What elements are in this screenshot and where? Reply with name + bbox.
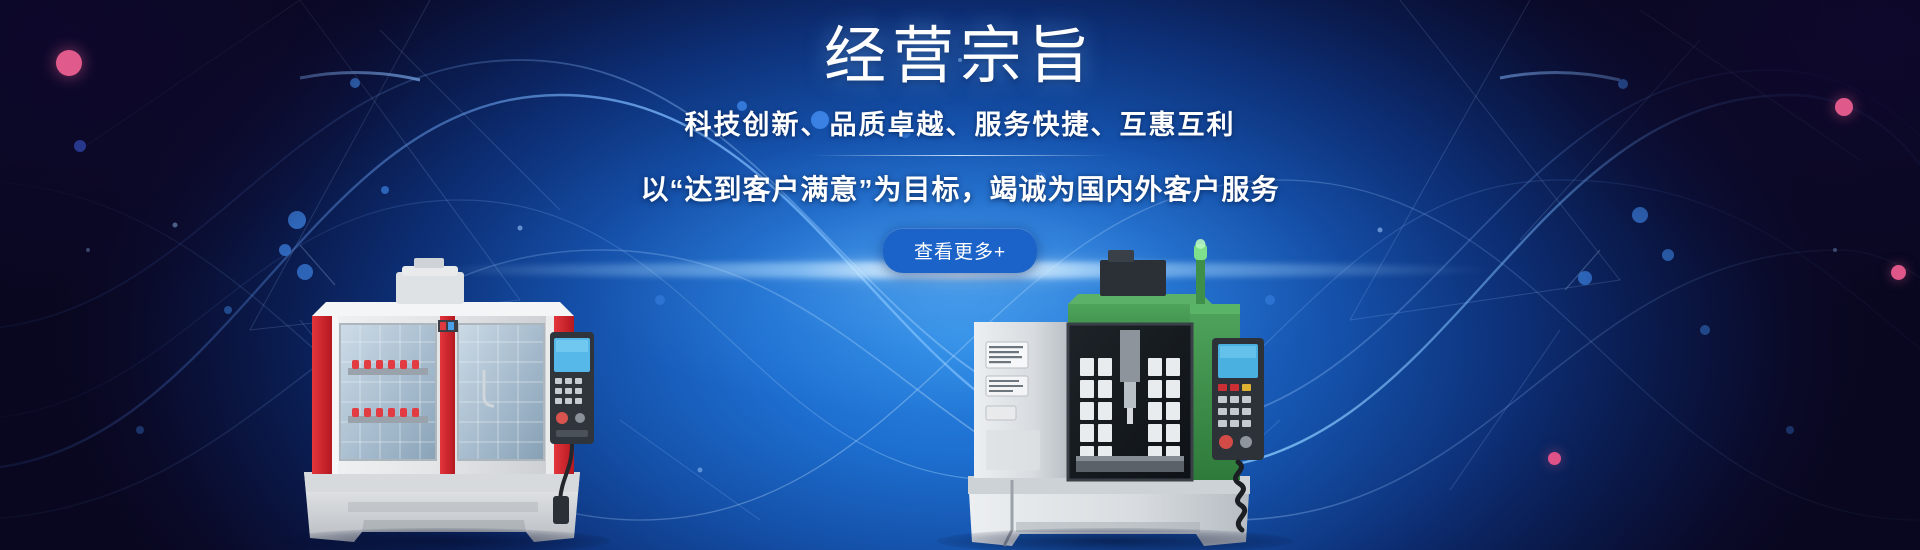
- view-more-button[interactable]: 查看更多+: [883, 228, 1037, 273]
- banner-content: 经营宗旨 科技创新、品质卓越、服务快捷、互惠互利 以“达到客户满意”为目标，竭诚…: [0, 0, 1920, 273]
- machine-shadow-left: [276, 528, 611, 550]
- accent-dot-pink-right-low: [1548, 452, 1561, 465]
- machine-shadow-right: [937, 528, 1293, 550]
- cnc-vertical-mill-icon: [950, 230, 1280, 550]
- promo-banner: 经营宗旨 科技创新、品质卓越、服务快捷、互惠互利 以“达到客户满意”为目标，竭诚…: [0, 0, 1920, 550]
- page-title: 经营宗旨: [0, 0, 1920, 91]
- banner-subtitle: 科技创新、品质卓越、服务快捷、互惠互利: [0, 103, 1920, 142]
- banner-tagline: 以“达到客户满意”为目标，竭诚为国内外客户服务: [0, 168, 1920, 208]
- text-divider: [810, 155, 1110, 156]
- right-machine-svg: [950, 230, 1280, 550]
